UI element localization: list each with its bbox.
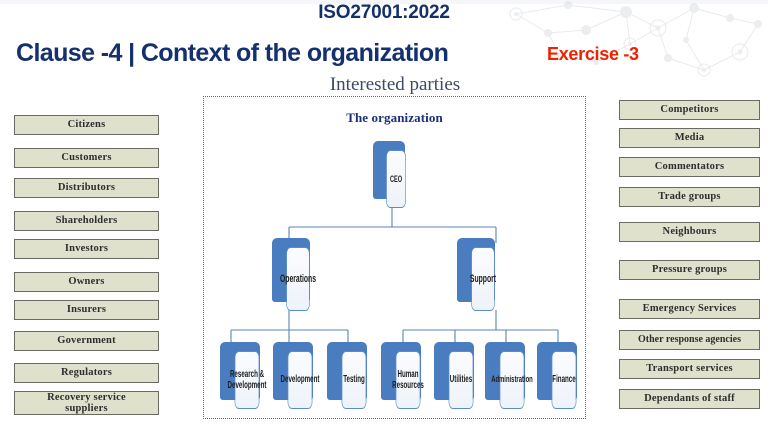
exercise-badge: Exercise -3 [547, 44, 639, 65]
stakeholder-right-competitors[interactable]: Competitors [619, 100, 760, 120]
stakeholder-right-dependants-of-staff[interactable]: Dependants of staff [619, 389, 760, 409]
node-card: Operations [286, 247, 310, 311]
node-card: Human Resources [396, 351, 421, 409]
org-node-development[interactable]: Development [273, 342, 313, 400]
stakeholder-label: Distributors [58, 182, 115, 193]
stakeholder-label: Owners [68, 276, 104, 287]
org-node-human-resources[interactable]: Human Resources [381, 342, 421, 400]
org-node-label: Research & Development [228, 369, 267, 391]
stakeholder-label: Regulators [61, 367, 112, 378]
node-card: Support [471, 247, 495, 311]
stakeholder-left-customers[interactable]: Customers [14, 148, 159, 168]
stakeholder-label: Other response agencies [638, 335, 741, 346]
org-node-testing[interactable]: Testing [327, 342, 367, 400]
org-node-label: Finance [552, 374, 575, 385]
stakeholder-right-other-response-agencies[interactable]: Other response agencies [619, 330, 760, 350]
stakeholder-label: Dependants of staff [644, 393, 735, 404]
org-node-label: Testing [343, 374, 365, 385]
stakeholder-left-investors[interactable]: Investors [14, 239, 159, 259]
org-node-label: Operations [280, 273, 316, 285]
org-node-label: Support [470, 273, 496, 285]
stakeholder-right-emergency-services[interactable]: Emergency Services [619, 299, 760, 319]
stakeholder-label: Investors [65, 243, 108, 254]
node-card: Development [288, 351, 313, 409]
stakeholder-label: Media [675, 132, 705, 143]
stakeholder-label: Government [57, 335, 116, 346]
org-node-ceo[interactable]: CEO [373, 141, 405, 199]
stakeholder-left-recovery-service-suppliers[interactable]: Recovery service suppliers [14, 391, 159, 415]
interested-parties-subtitle: Interested parties [205, 74, 585, 96]
stakeholder-left-owners[interactable]: Owners [14, 272, 159, 292]
org-node-administration[interactable]: Administration [485, 342, 525, 400]
org-node-utilities[interactable]: Utilities [434, 342, 474, 400]
stakeholder-label: Neighbours [663, 226, 717, 237]
stakeholder-label: Citizens [68, 119, 106, 130]
node-card: Administration [500, 351, 525, 409]
stakeholder-right-transport-services[interactable]: Transport services [619, 359, 760, 379]
stakeholder-label: Emergency Services [643, 303, 737, 314]
slide-canvas: ISO27001:2022 Clause -4 | Context of the… [0, 0, 768, 430]
stakeholder-left-government[interactable]: Government [14, 331, 159, 351]
node-card: Finance [552, 351, 577, 409]
org-node-support[interactable]: Support [457, 238, 495, 302]
org-node-label: Development [281, 374, 320, 385]
stakeholder-label: Customers [61, 152, 111, 163]
node-card: CEO [386, 150, 406, 208]
node-card: Utilities [449, 351, 474, 409]
stakeholder-right-neighbours[interactable]: Neighbours [619, 222, 760, 242]
stakeholder-left-distributors[interactable]: Distributors [14, 178, 159, 198]
clause-title: Clause -4 | Context of the organization [16, 39, 448, 68]
org-node-label: CEO [390, 174, 402, 184]
stakeholder-right-trade-groups[interactable]: Trade groups [619, 187, 760, 207]
stakeholder-label: Transport services [646, 363, 733, 374]
stakeholder-left-insurers[interactable]: Insurers [14, 300, 159, 320]
standard-title: ISO27001:2022 [0, 2, 768, 24]
stakeholder-left-regulators[interactable]: Regulators [14, 363, 159, 383]
stakeholder-label: Shareholders [56, 215, 118, 226]
stakeholder-label: Commentators [655, 161, 724, 172]
stakeholder-right-pressure-groups[interactable]: Pressure groups [619, 260, 760, 280]
org-node-label: Utilities [450, 374, 472, 385]
node-card: Testing [342, 351, 367, 409]
org-node-finance[interactable]: Finance [537, 342, 577, 400]
stakeholder-label: Insurers [67, 304, 106, 315]
org-node-label: Human Resources [392, 369, 424, 391]
org-node-label: Administration [491, 375, 533, 386]
stakeholder-right-media[interactable]: Media [619, 128, 760, 148]
stakeholder-left-shareholders[interactable]: Shareholders [14, 211, 159, 231]
stakeholder-right-commentators[interactable]: Commentators [619, 157, 760, 177]
org-node-research-and-development[interactable]: Research & Development [220, 342, 260, 400]
stakeholder-label: Pressure groups [652, 264, 727, 275]
stakeholder-label: Recovery service suppliers [47, 392, 126, 415]
node-card: Research & Development [235, 351, 260, 409]
org-node-operations[interactable]: Operations [272, 238, 310, 302]
stakeholder-left-citizens[interactable]: Citizens [14, 115, 159, 135]
stakeholder-label: Trade groups [658, 191, 720, 202]
organization-heading: The organization [203, 110, 586, 126]
stakeholder-label: Competitors [660, 104, 718, 115]
